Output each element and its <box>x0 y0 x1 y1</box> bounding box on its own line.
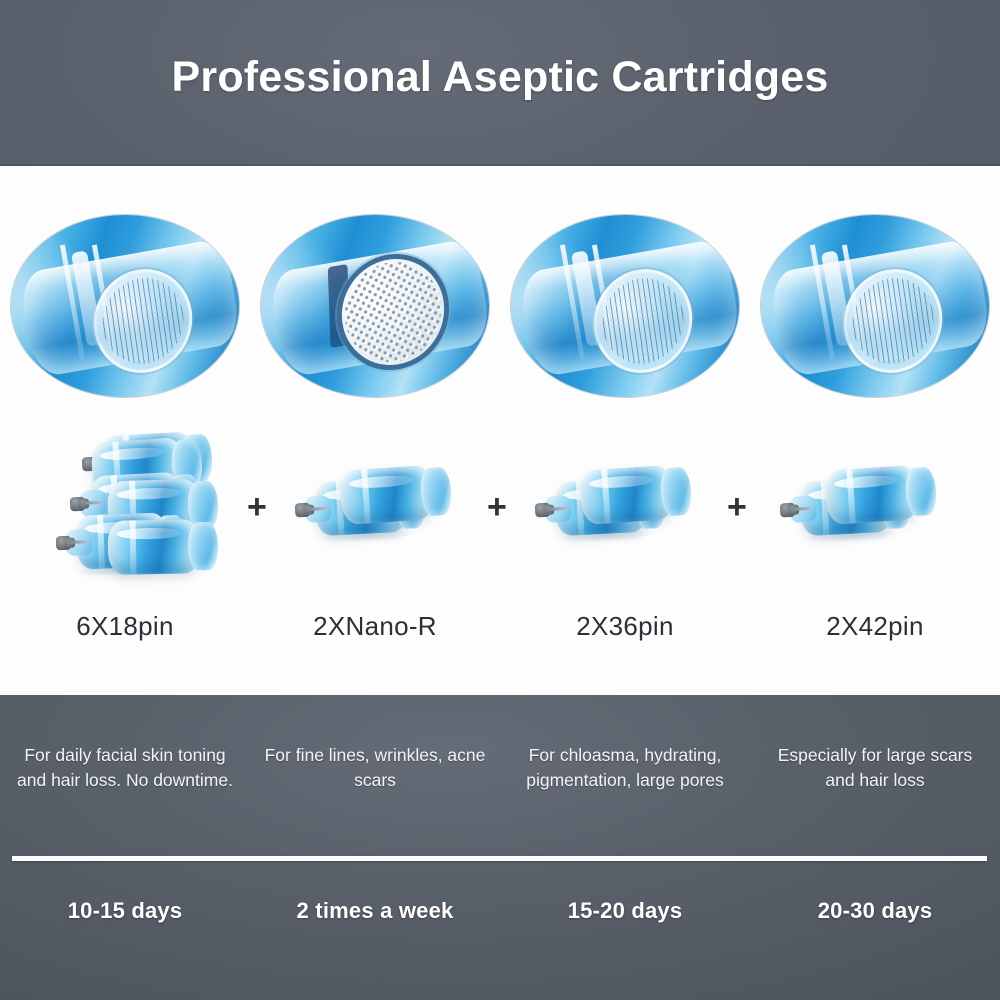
cartridge-group-2x36pin <box>523 428 723 578</box>
cartridge-pin-icon <box>295 502 326 518</box>
duration-2x42pin: 20-30 days <box>750 898 1000 924</box>
duration-row: 10-15 days 2 times a week 15-20 days 20-… <box>0 898 1000 924</box>
product-infographic: Professional Aseptic Cartridges <box>0 0 1000 1000</box>
cartridge-unit <box>561 464 692 527</box>
page-title: Professional Aseptic Cartridges <box>0 53 1000 102</box>
cartridge-tip-nano-photo <box>260 214 490 398</box>
duration-2xnano-r: 2 times a week <box>250 898 500 924</box>
description-band: For daily facial skin toning and hair lo… <box>0 695 1000 1000</box>
cartridge-cap <box>419 467 452 517</box>
closeup-cell-1 <box>0 214 250 414</box>
plus-separator-2: + <box>487 490 507 524</box>
cartridge-unit <box>90 519 219 575</box>
cartridge-unit <box>321 464 452 527</box>
header-band: Professional Aseptic Cartridges <box>0 0 1000 166</box>
cartridge-group-6x18pin <box>28 428 238 578</box>
closeup-cell-3 <box>500 214 750 414</box>
description-2x42pin: Especially for large scars and hair loss <box>750 743 1000 793</box>
duration-2x36pin: 15-20 days <box>500 898 750 924</box>
description-2xnano-r: For fine lines, wrinkles, acne scars <box>250 743 500 793</box>
closeup-photo-row <box>0 214 1000 414</box>
product-area: + + <box>0 166 1000 695</box>
pin-label-row: 6X18pin 2XNano-R 2X36pin 2X42pin <box>0 611 1000 661</box>
plus-separator-1: + <box>247 490 267 524</box>
cartridge-cap <box>188 522 219 571</box>
cartridge-group-2x42pin <box>768 428 968 578</box>
pin-label-2x36pin: 2X36pin <box>500 611 750 661</box>
pin-label-2xnano-r: 2XNano-R <box>250 611 500 661</box>
cartridge-cap <box>904 467 937 517</box>
cartridge-groups-row: + + <box>0 428 1000 578</box>
duration-6x18pin: 10-15 days <box>0 898 250 924</box>
cartridge-tip-42pin-photo <box>760 214 990 398</box>
cartridge-group-2xnano-r <box>283 428 483 578</box>
cartridge-tip-18pin-photo <box>10 214 240 398</box>
plus-separator-3: + <box>727 490 747 524</box>
cartridge-cap <box>659 467 692 517</box>
cartridge-pin-icon <box>535 502 566 518</box>
cartridge-barrel <box>108 519 201 575</box>
pin-label-6x18pin: 6X18pin <box>0 611 250 661</box>
cartridge-tip-36pin-photo <box>510 214 740 398</box>
horizontal-divider <box>12 856 987 861</box>
description-2x36pin: For chloasma, hydrating, pigmentation, l… <box>500 743 750 793</box>
cartridge-pin-icon <box>56 535 86 550</box>
cartridge-pin-icon <box>780 502 811 518</box>
description-row: For daily facial skin toning and hair lo… <box>0 743 1000 793</box>
description-6x18pin: For daily facial skin toning and hair lo… <box>0 743 250 793</box>
cartridge-unit <box>806 464 937 527</box>
pin-label-2x42pin: 2X42pin <box>750 611 1000 661</box>
closeup-cell-2 <box>250 214 500 414</box>
closeup-cell-4 <box>750 214 1000 414</box>
